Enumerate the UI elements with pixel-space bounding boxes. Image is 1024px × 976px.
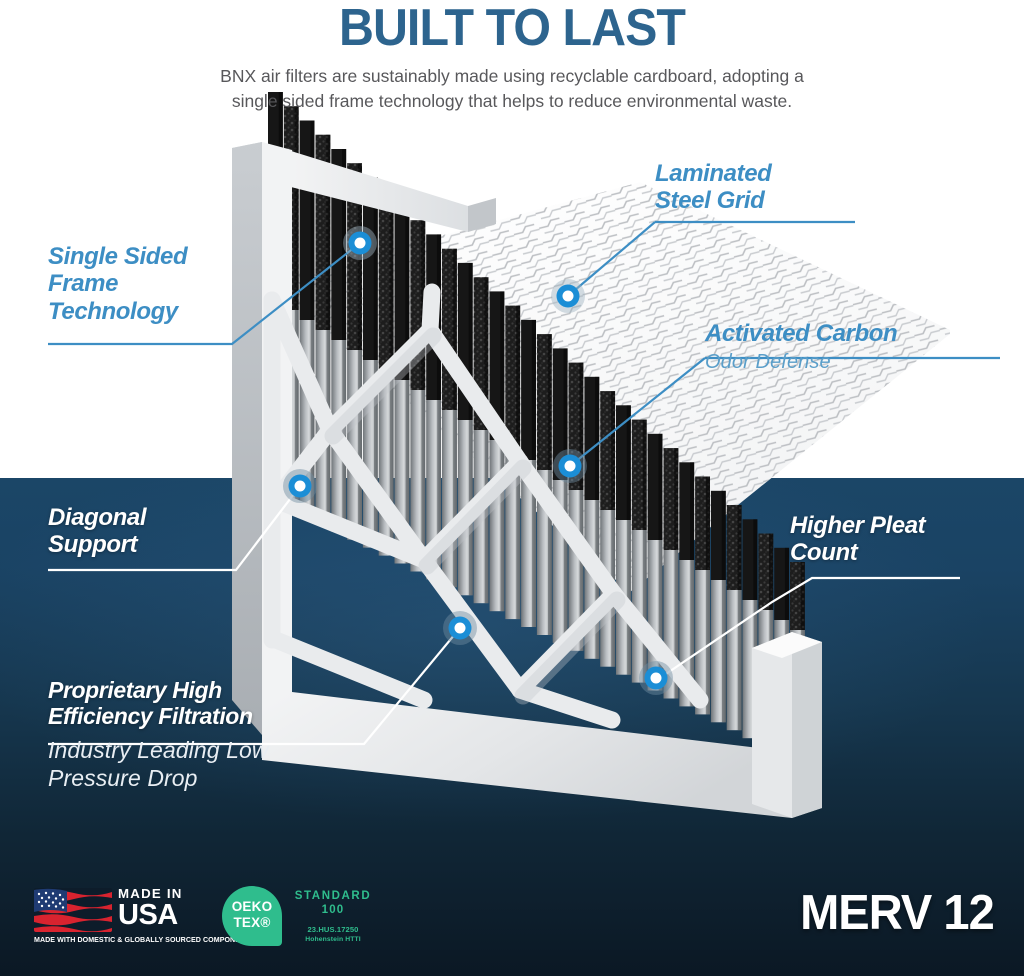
usa-label: USA bbox=[118, 902, 181, 930]
callout-single-line2: Frame bbox=[48, 270, 118, 297]
usa-flag-icon bbox=[34, 888, 112, 932]
oeko-standard-label: STANDARD bbox=[288, 890, 378, 902]
callout-prop-sub-line1: Industry Leading Low bbox=[48, 737, 269, 763]
infographic-canvas: BUILT TO LAST BNX air filters are sustai… bbox=[0, 0, 1024, 976]
subtitle-line-2: single sided frame technology that helps… bbox=[232, 91, 792, 111]
callout-prop-line1: Proprietary High bbox=[48, 677, 222, 703]
callout-laminated-steel-grid: Laminated Steel Grid bbox=[655, 160, 915, 215]
callout-carbon-subtitle: Odor Defense bbox=[705, 350, 1005, 374]
callout-higher-pleat-count: Higher Pleat Count bbox=[790, 512, 1024, 567]
oeko-tex-logo-icon: OEKO TEX® bbox=[222, 886, 282, 946]
oeko-standard-number: 100 bbox=[288, 904, 378, 916]
callout-pleat-line1: Higher Pleat bbox=[790, 512, 925, 539]
merv-rating: MERV 12 bbox=[800, 885, 994, 941]
callout-prop-sub-line2: Pressure Drop bbox=[48, 765, 198, 791]
usa-fine-print: MADE WITH DOMESTIC & GLOBALLY SOURCED CO… bbox=[34, 936, 196, 944]
oeko-line2: TEX® bbox=[222, 915, 282, 930]
callout-diagonal-line2: Support bbox=[48, 531, 137, 558]
callout-steel-line2: Steel Grid bbox=[655, 187, 764, 214]
oeko-tex-badge: OEKO TEX® STANDARD 100 23.HUS.17250 Hohe… bbox=[222, 886, 372, 948]
callout-diagonal-line1: Diagonal bbox=[48, 504, 146, 531]
made-in-usa-text: MADE IN USA bbox=[118, 886, 181, 930]
oeko-tex-details: STANDARD 100 23.HUS.17250 Hohenstein HTT… bbox=[288, 890, 378, 943]
page-title: BUILT TO LAST bbox=[36, 0, 988, 58]
subtitle-line-1: BNX air filters are sustainably made usi… bbox=[220, 66, 804, 86]
callout-prop-line2: Efficiency Filtration bbox=[48, 703, 253, 729]
callout-carbon-line1: Activated Carbon bbox=[705, 320, 897, 347]
made-in-label: MADE IN bbox=[118, 886, 183, 901]
callout-single-sided-frame-technology: Single Sided Frame Technology bbox=[48, 243, 298, 325]
callout-pleat-line2: Count bbox=[790, 539, 857, 566]
product-illustration bbox=[0, 0, 1024, 976]
page-subtitle: BNX air filters are sustainably made usi… bbox=[112, 64, 912, 114]
callout-single-line3: Technology bbox=[48, 298, 178, 325]
callout-activated-carbon: Activated Carbon Odor Defense bbox=[705, 320, 1005, 374]
oeko-line1: OEKO bbox=[222, 899, 282, 914]
oeko-institute: Hohenstein HTTI bbox=[288, 936, 378, 943]
oeko-cert-number: 23.HUS.17250 bbox=[288, 925, 378, 934]
callout-diagonal-support: Diagonal Support bbox=[48, 504, 298, 559]
callout-steel-line1: Laminated bbox=[655, 160, 771, 187]
made-in-usa-badge: MADE IN USA MADE WITH DOMESTIC & GLOBALL… bbox=[34, 886, 194, 948]
callout-single-line1: Single Sided bbox=[48, 243, 187, 270]
callout-proprietary-high-efficiency-filtration: Proprietary High Efficiency Filtration I… bbox=[48, 677, 348, 793]
